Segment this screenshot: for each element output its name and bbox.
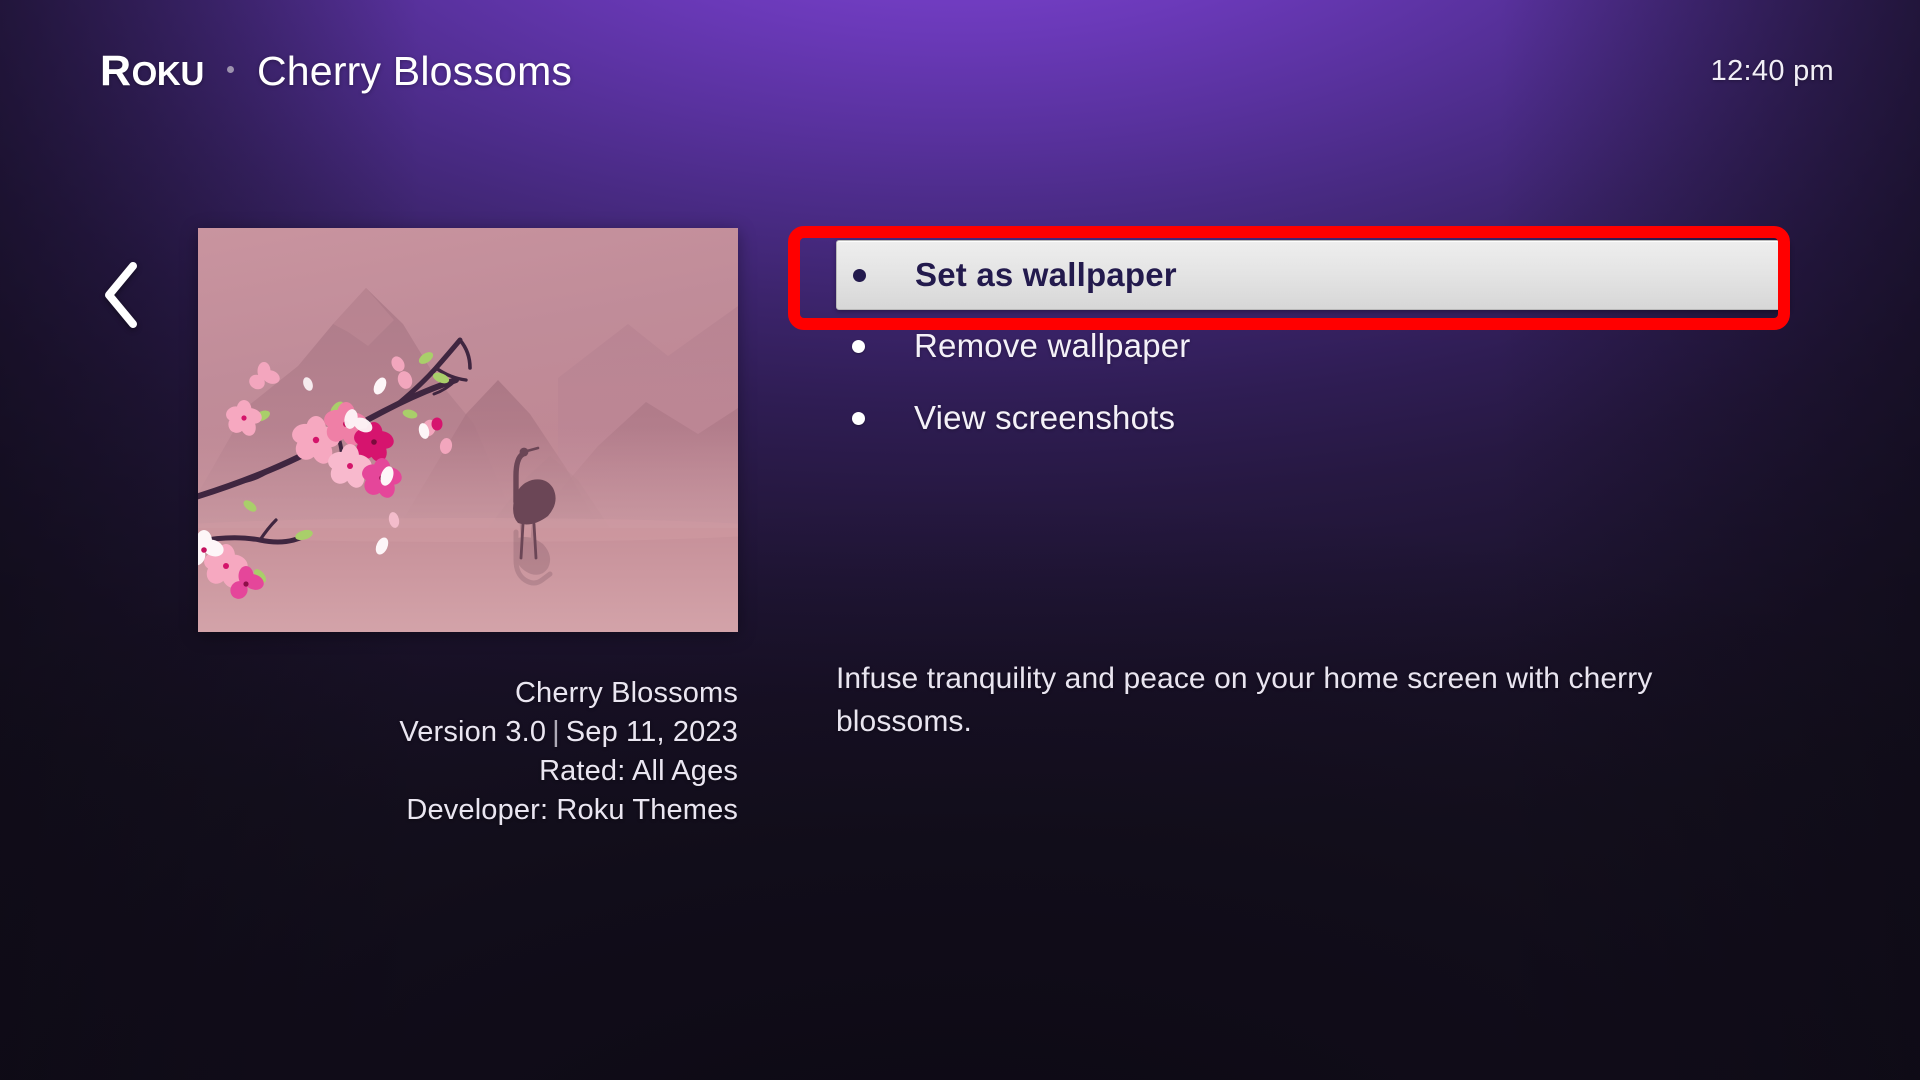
screensaver-description: Infuse tranquility and peace on your hom…	[836, 658, 1716, 743]
bullet-dot-icon	[852, 412, 865, 425]
dot-separator-icon	[227, 66, 234, 73]
bullet-dot-icon	[853, 269, 866, 282]
menu-item-label: Remove wallpaper	[914, 327, 1191, 365]
meta-version: Version 3.0	[399, 716, 546, 748]
meta-name: Cherry Blossoms	[198, 674, 738, 713]
roku-screensaver-details-screen: ROKU Cherry Blossoms 12:40 pm	[0, 0, 1920, 1080]
cherry-blossoms-artwork	[198, 228, 738, 632]
menu-item-label: Set as wallpaper	[915, 256, 1177, 294]
menu-item-view-screenshots[interactable]: View screenshots	[836, 382, 1796, 454]
meta-developer: Developer: Roku Themes	[198, 791, 738, 830]
screensaver-thumbnail[interactable]	[198, 228, 738, 632]
action-menu: Set as wallpaper Remove wallpaper View s…	[836, 240, 1796, 454]
breadcrumb: ROKU Cherry Blossoms	[100, 48, 572, 95]
meta-separator: |	[546, 716, 566, 748]
roku-logo-cap: R	[100, 50, 131, 93]
preview-column: Cherry Blossoms Version 3.0|Sep 11, 2023…	[198, 228, 738, 829]
meta-rating: Rated: All Ages	[198, 752, 738, 791]
header-bar: ROKU Cherry Blossoms 12:40 pm	[0, 0, 1920, 142]
back-button[interactable]	[92, 252, 150, 338]
roku-logo-rest: OKU	[132, 57, 204, 90]
page-title: Cherry Blossoms	[257, 48, 572, 95]
chevron-left-icon	[102, 262, 140, 328]
menu-item-remove-wallpaper[interactable]: Remove wallpaper	[836, 310, 1796, 382]
roku-logo: ROKU	[100, 50, 204, 93]
clock-time: 12:40 pm	[1711, 55, 1834, 88]
bullet-dot-icon	[852, 340, 865, 353]
meta-version-date: Version 3.0|Sep 11, 2023	[198, 713, 738, 752]
menu-item-label: View screenshots	[914, 399, 1175, 437]
menu-item-set-as-wallpaper[interactable]: Set as wallpaper	[836, 240, 1790, 310]
meta-date: Sep 11, 2023	[566, 716, 738, 748]
screensaver-metadata: Cherry Blossoms Version 3.0|Sep 11, 2023…	[198, 674, 738, 829]
